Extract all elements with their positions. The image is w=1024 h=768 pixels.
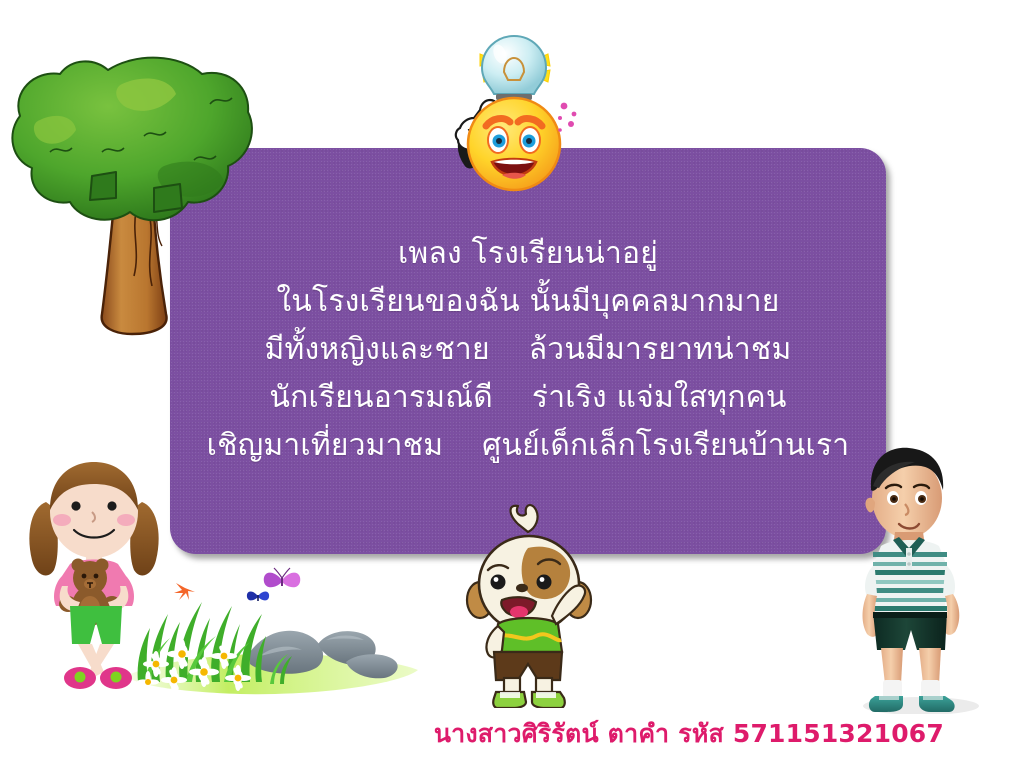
tree-foliage [12, 58, 252, 221]
boy-leg-right [919, 648, 941, 684]
boy-polo-shirt [865, 537, 955, 614]
lyric-line-5: เชิญมาเที่ยวมาชม ศูนย์เด็กเล็กโรงเรียนบ้… [162, 422, 894, 470]
butterfly-blue [247, 592, 269, 601]
eye-right [107, 501, 116, 510]
lightbulb-icon [482, 36, 546, 94]
tree-icon [4, 36, 254, 346]
orange-flower [174, 583, 195, 600]
eye-left [491, 575, 506, 590]
puppy-mascot-icon [464, 502, 594, 708]
lyric-line-2: ในโรงเรียนของฉัน นั้นมีบุคคลมากมาย [162, 278, 894, 326]
nose [516, 584, 528, 592]
head-tuft [511, 505, 538, 532]
lyric-line-4: นักเรียนอารมณ์ดี ร่าเริง แจ่มใสทุกคน [162, 374, 894, 422]
lyric-line-3: มีทั้งหญิงและชาย ล้วนมีมารยาทน่าชม [162, 326, 894, 374]
girl-with-teddy-icon [18, 458, 170, 690]
slide-canvas: เพลง โรงเรียนน่าอยู่ ในโรงเรียนของฉัน นั… [0, 0, 1024, 768]
lyric-line-1: เพลง โรงเรียนน่าอยู่ [162, 230, 894, 278]
boy-leg-left [881, 648, 903, 684]
eye-right [537, 575, 552, 590]
smiley-with-lightbulb-icon [424, 22, 594, 197]
lyrics-text-block: เพลง โรงเรียนน่าอยู่ ในโรงเรียนของฉัน นั… [162, 230, 894, 470]
sock-left [883, 680, 902, 698]
eye-left [71, 501, 80, 510]
lyrics-panel: เพลง โรงเรียนน่าอยู่ ในโรงเรียนของฉัน นั… [170, 148, 886, 554]
puppy-shorts [494, 652, 562, 680]
girl-shorts [70, 606, 122, 644]
sparkle-dots [558, 103, 576, 132]
butterfly-purple [264, 568, 301, 587]
sock-right [921, 680, 940, 698]
student-credit-text: นางสาวศิริรัตน์ ตาคำ รหัส 571151321067 [0, 714, 944, 754]
boy-character-icon [845, 442, 1000, 714]
